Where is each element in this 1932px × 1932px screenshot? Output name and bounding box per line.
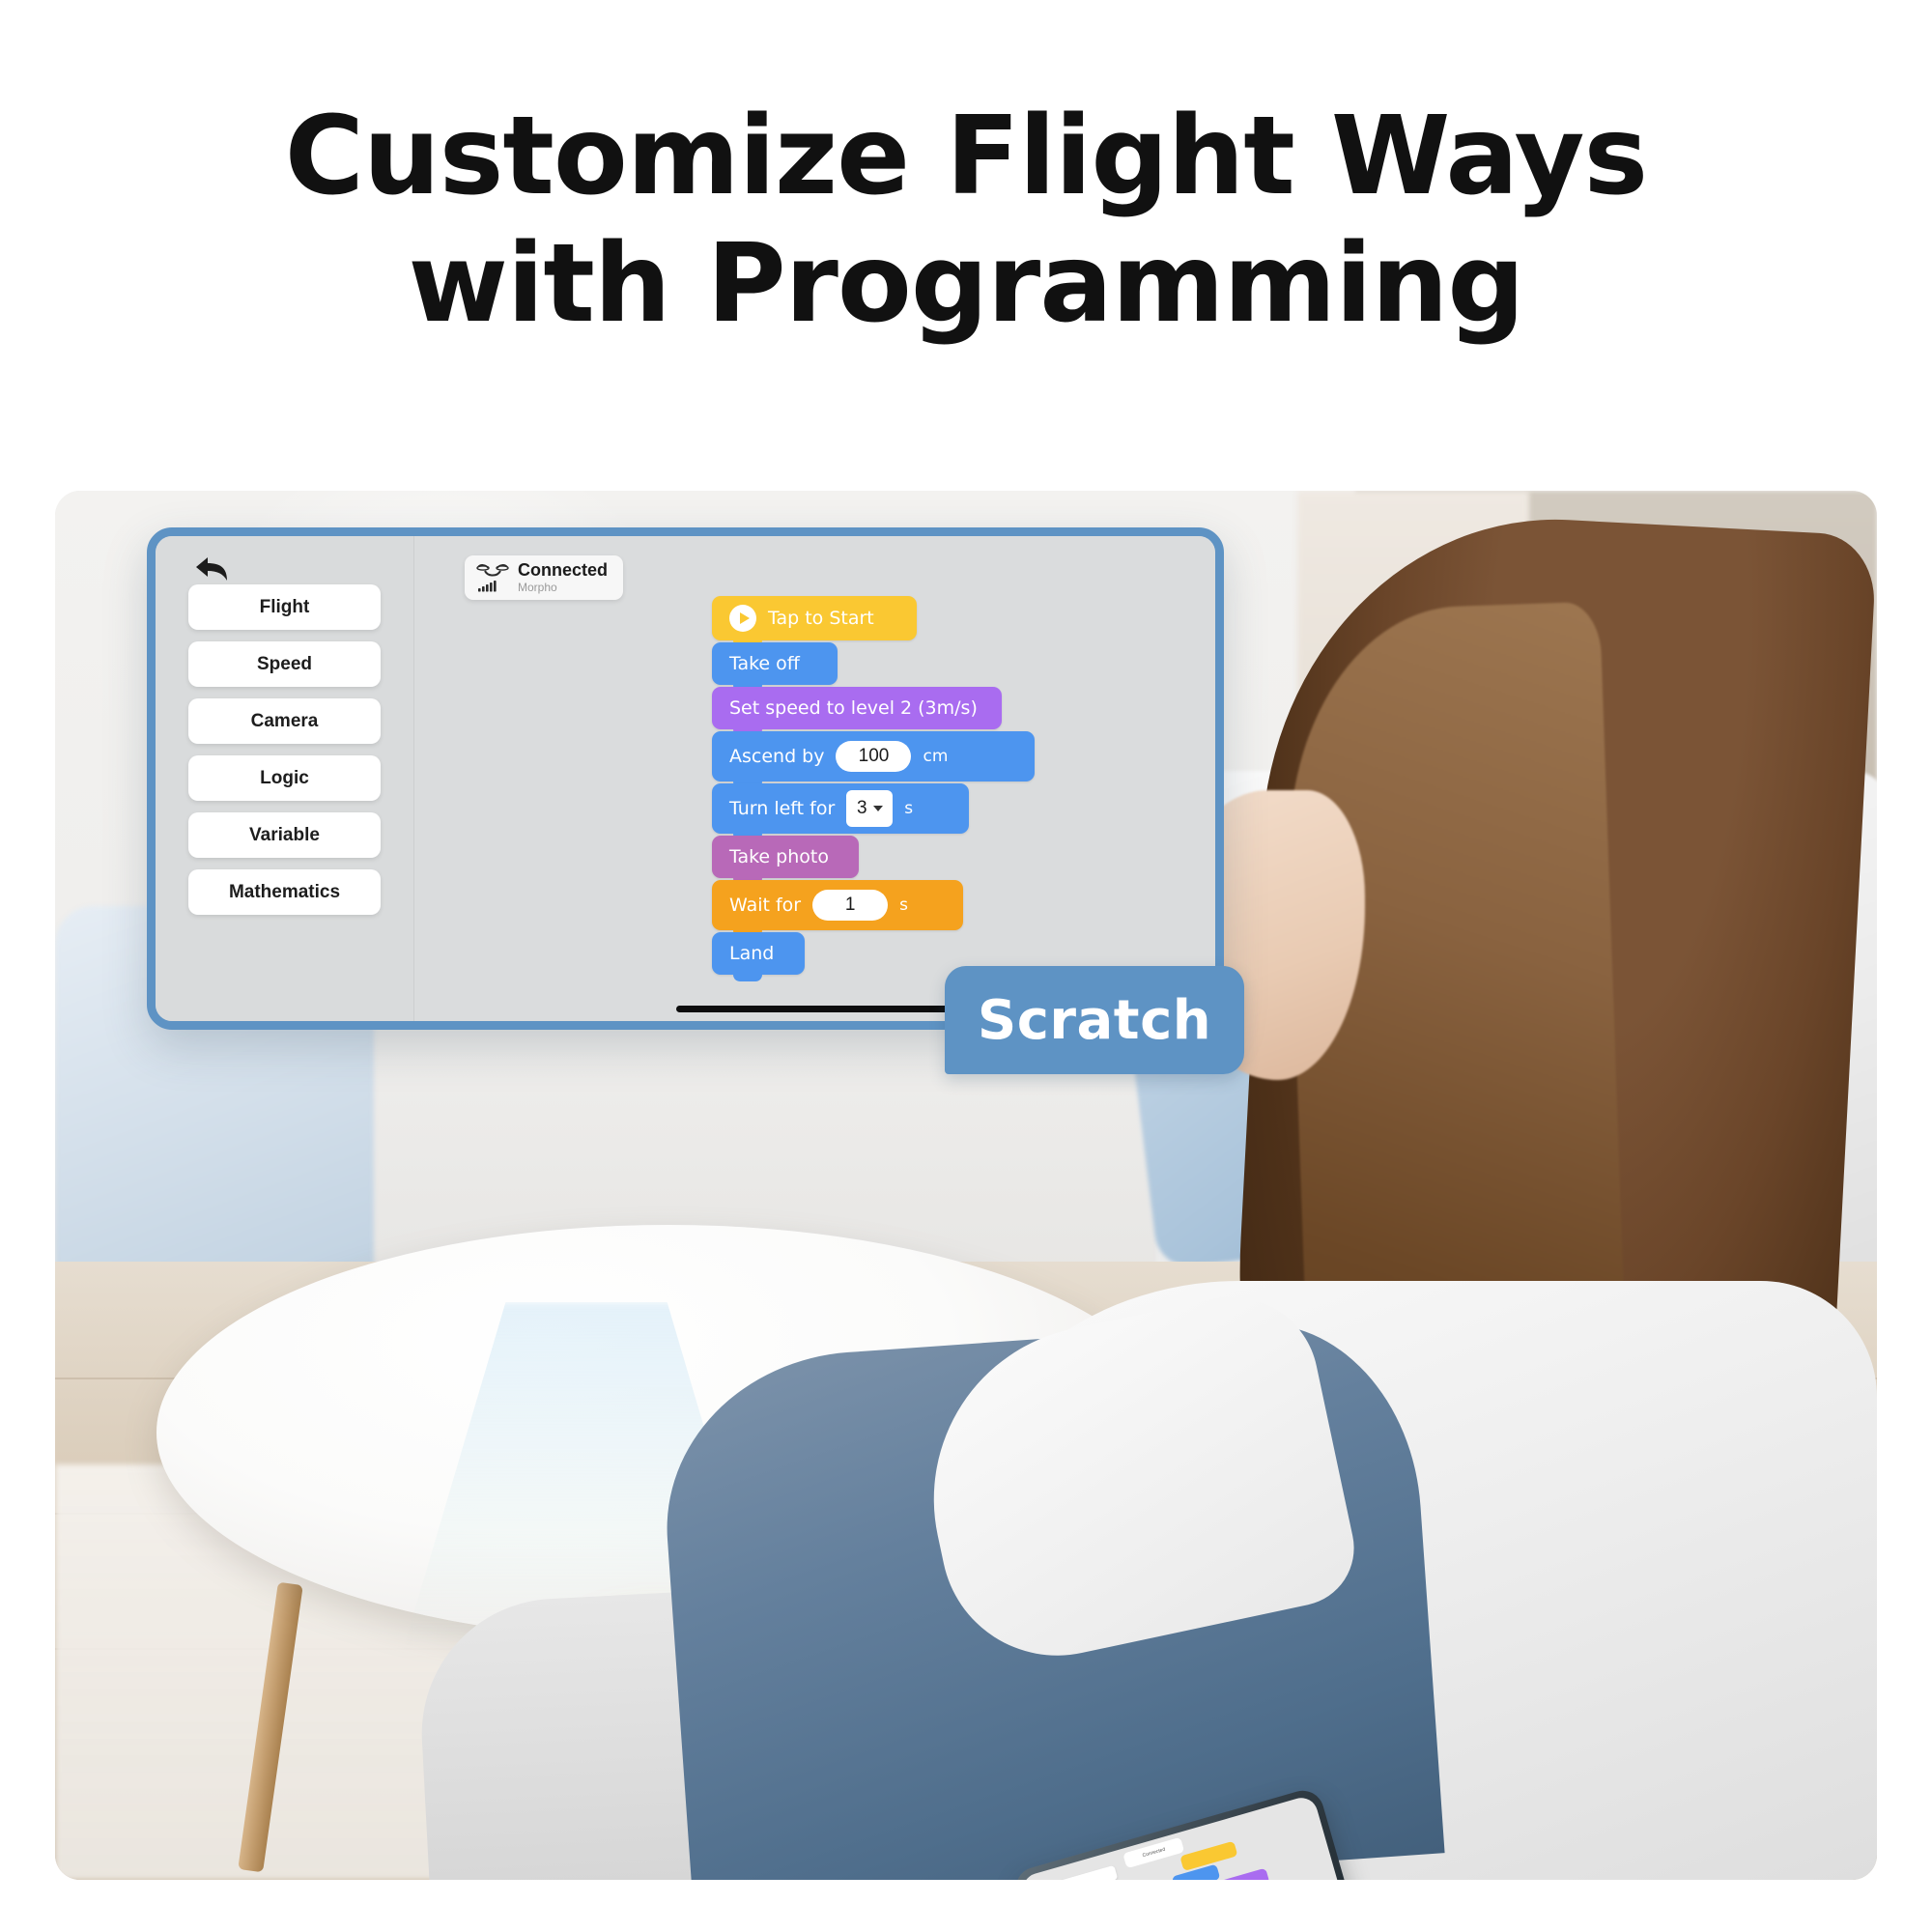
wait-unit-label: s — [899, 895, 908, 915]
tablet-sidebar[interactable]: Flight Speed Camera Logic Variable Mathe… — [156, 536, 414, 1021]
block-ascend-by[interactable]: Ascend by 100 cm — [712, 731, 1035, 781]
block-take-off-label: Take off — [729, 653, 800, 674]
block-take-photo[interactable]: Take photo — [712, 836, 859, 878]
block-land-label: Land — [729, 943, 774, 964]
sidebar-item-logic[interactable]: Logic — [188, 755, 381, 801]
connection-status-label: Connected — [518, 561, 608, 580]
back-arrow-icon[interactable] — [190, 550, 235, 588]
connection-device-label: Morpho — [518, 582, 608, 594]
play-icon — [729, 605, 756, 632]
block-stack[interactable]: Tap to Start Take off Set speed to level… — [712, 596, 1035, 977]
ascend-value-input[interactable]: 100 — [836, 741, 911, 772]
block-take-photo-label: Take photo — [729, 846, 829, 867]
hero-photo: Flight Speed Camera Logic Variable Mathe… — [55, 491, 1877, 1880]
connection-text: Connected Morpho — [518, 561, 608, 593]
sidebar-item-camera[interactable]: Camera — [188, 698, 381, 744]
page-title: Customize Flight Ways with Programming — [0, 101, 1932, 339]
tablet-device[interactable]: Flight Speed Camera Logic Variable Mathe… — [147, 527, 1224, 1030]
home-indicator — [676, 1006, 954, 1012]
block-tap-to-start-label: Tap to Start — [768, 608, 874, 629]
block-turn-left-for[interactable]: Turn left for 3 s — [712, 783, 969, 834]
block-land[interactable]: Land — [712, 932, 805, 975]
connection-status-badge[interactable]: Connected Morpho — [465, 555, 623, 600]
turn-left-unit-label: s — [904, 799, 913, 818]
block-wait-for-label: Wait for — [729, 895, 801, 916]
turn-left-duration-select[interactable]: 3 — [846, 790, 893, 827]
ascend-unit-label: cm — [923, 747, 948, 766]
block-ascend-by-label: Ascend by — [729, 746, 824, 767]
page-title-line-1: Customize Flight Ways — [285, 94, 1647, 219]
chevron-down-icon — [873, 806, 883, 811]
sidebar-item-flight[interactable]: Flight — [188, 584, 381, 630]
drone-icon — [476, 563, 509, 592]
turn-left-duration-value: 3 — [857, 798, 867, 819]
tablet-canvas[interactable]: Connected Morpho Tap to Start Take off S… — [414, 536, 1215, 1021]
sidebar-item-speed[interactable]: Speed — [188, 641, 381, 687]
block-set-speed[interactable]: Set speed to level 2 (3m/s) — [712, 687, 1002, 729]
block-turn-left-label: Turn left for — [729, 798, 835, 819]
block-set-speed-label: Set speed to level 2 (3m/s) — [729, 697, 978, 719]
block-tap-to-start[interactable]: Tap to Start — [712, 596, 917, 640]
block-take-off[interactable]: Take off — [712, 642, 838, 685]
wait-value-input[interactable]: 1 — [812, 890, 888, 921]
block-wait-for[interactable]: Wait for 1 s — [712, 880, 963, 930]
sidebar-item-variable[interactable]: Variable — [188, 812, 381, 858]
scratch-tab-label: Scratch — [945, 966, 1244, 1074]
page-title-line-2: with Programming — [0, 229, 1932, 339]
sidebar-item-mathematics[interactable]: Mathematics — [188, 869, 381, 915]
